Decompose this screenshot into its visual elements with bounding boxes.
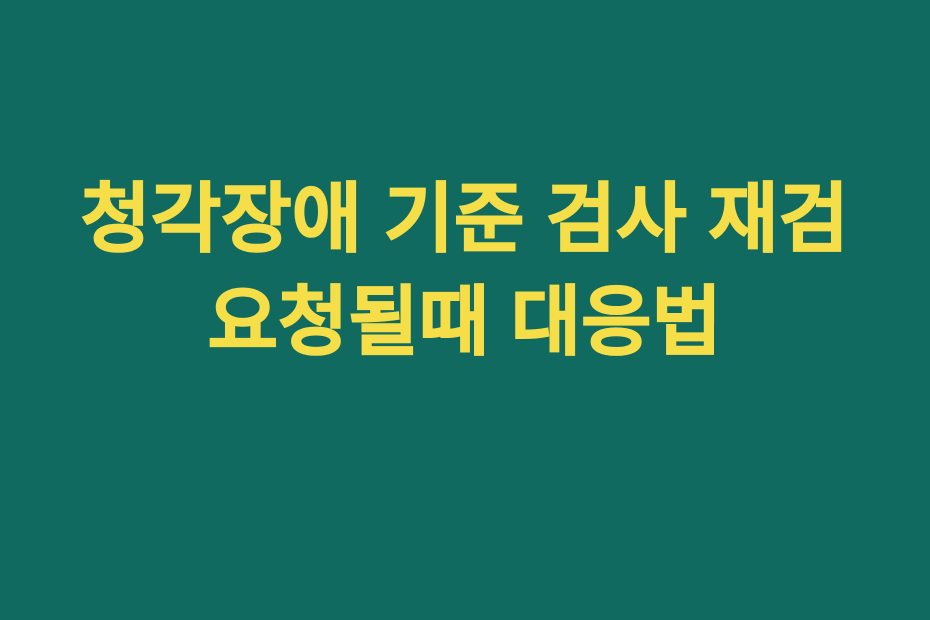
- title-card: 청각장애 기준 검사 재검 요청될때 대응법: [0, 0, 930, 620]
- headline-line-1: 청각장애 기준 검사 재검: [0, 168, 930, 271]
- headline-block: 청각장애 기준 검사 재검 요청될때 대응법: [0, 168, 930, 375]
- headline-line-2: 요청될때 대응법: [0, 271, 930, 374]
